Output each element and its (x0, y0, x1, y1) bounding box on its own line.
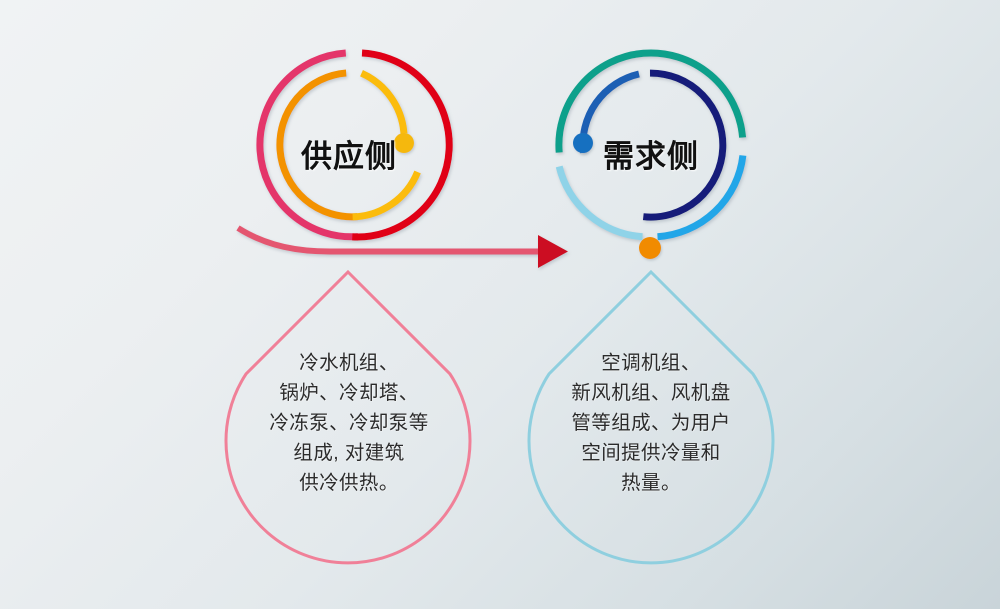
text-line: 热量。 (540, 468, 762, 498)
text-line: 管等组成、为用户 (540, 408, 762, 438)
supply-teardrop-text: 冷水机组、 锅炉、冷却塔、 冷冻泵、冷却泵等 组成, 对建筑 供冷供热。 (238, 348, 460, 498)
diagram-graphics-layer (0, 0, 1000, 609)
text-line: 锅炉、冷却塔、 (238, 378, 460, 408)
text-line: 冷水机组、 (238, 348, 460, 378)
text-line: 新风机组、风机盘 (540, 378, 762, 408)
supply-inner-gold-arc (362, 73, 405, 133)
text-line: 空间提供冷量和 (540, 438, 762, 468)
supply-node-title: 供应侧 (259, 131, 439, 176)
demand-outer-pale-blue-arc (559, 167, 642, 237)
orange-dot (639, 237, 661, 259)
diagram-canvas: 供应侧 需求侧 冷水机组、 锅炉、冷却塔、 冷冻泵、冷却泵等 组成, 对建筑 供… (0, 0, 1000, 609)
supply-inner-gold-arc-lower (353, 172, 418, 217)
supply-to-demand-arrow (238, 228, 568, 268)
text-line: 供冷供热。 (238, 468, 460, 498)
arrow-head (538, 235, 568, 268)
text-line: 组成, 对建筑 (238, 438, 460, 468)
text-line: 空调机组、 (540, 348, 762, 378)
text-line: 冷冻泵、冷却泵等 (238, 408, 460, 438)
demand-node-title: 需求侧 (561, 131, 741, 176)
demand-teardrop-text: 空调机组、 新风机组、风机盘 管等组成、为用户 空间提供冷量和 热量。 (540, 348, 762, 498)
